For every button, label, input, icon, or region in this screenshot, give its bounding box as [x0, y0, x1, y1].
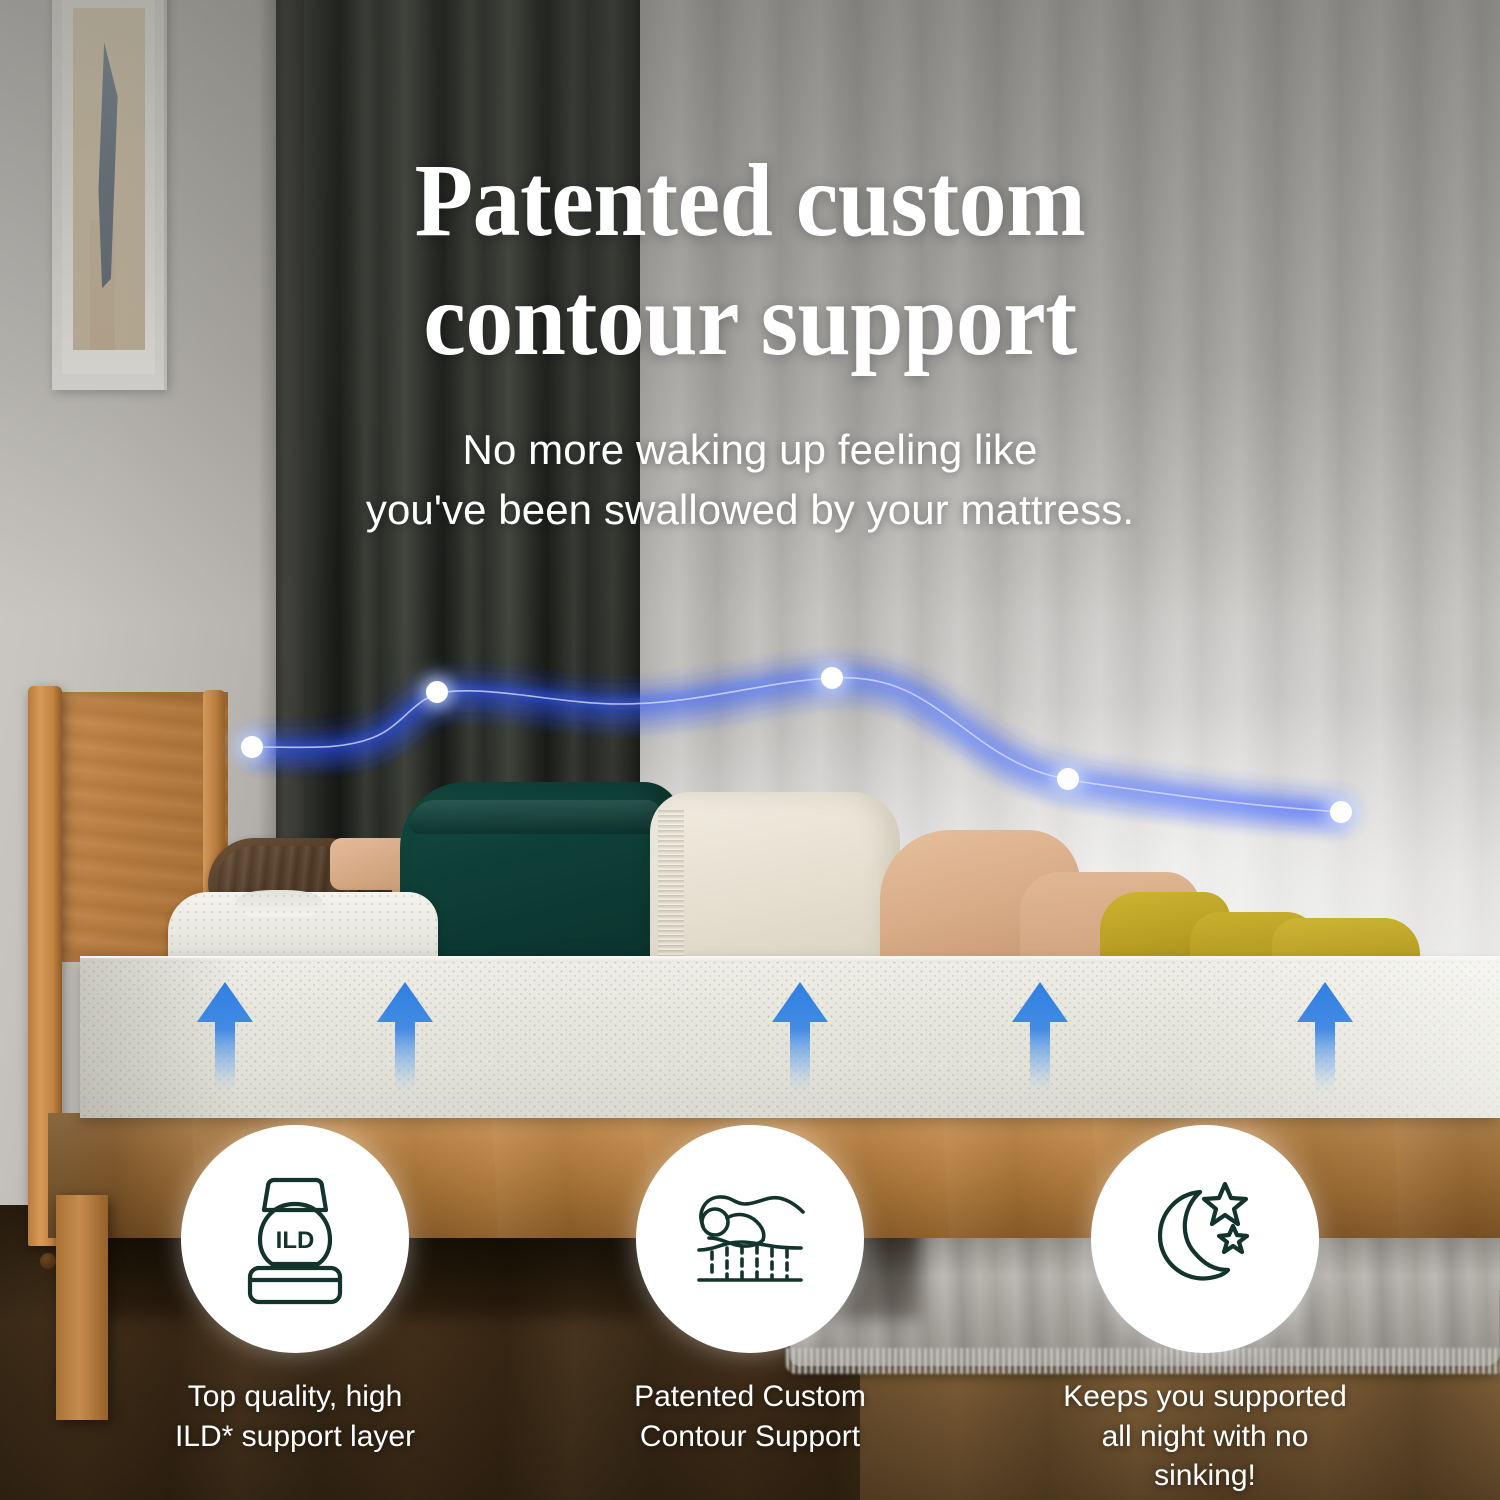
feature-caption: Top quality, high ILD* support layer — [175, 1377, 415, 1456]
product-feature-image: Patented custom contour support No more … — [0, 0, 1500, 1500]
art-canvas — [73, 8, 145, 350]
bed-frame-knob — [40, 1253, 56, 1269]
sleeper-shirt-seam — [658, 810, 684, 966]
feature-no-sinking[interactable]: Keeps you supported all night with no si… — [1055, 1125, 1355, 1496]
feature-ild-support[interactable]: ILD Top quality, high ILD* support layer — [145, 1125, 445, 1456]
feature-contour-support[interactable]: Patented Custom Contour Support — [600, 1125, 900, 1456]
weight-on-mattress-icon: ILD — [220, 1164, 370, 1314]
feature-caption: Patented Custom Contour Support — [634, 1377, 866, 1456]
feature-caption: Keeps you supported all night with no si… — [1055, 1377, 1355, 1496]
feature-badge-circle — [636, 1125, 864, 1353]
art-mat — [62, 0, 155, 374]
framed-wall-art — [52, 0, 167, 390]
contour-pillow-texture — [168, 892, 438, 964]
sleeper-top-fold — [410, 800, 660, 834]
person-on-support-layer-icon — [675, 1164, 825, 1314]
bed-frame-leg — [56, 1195, 108, 1420]
feature-badge-circle: ILD — [181, 1125, 409, 1353]
feature-list: ILD Top quality, high ILD* support layer — [0, 1125, 1500, 1455]
sleeper-cream-shirt — [650, 792, 900, 968]
feature-badge-circle — [1091, 1125, 1319, 1353]
moon-and-stars-icon — [1130, 1164, 1280, 1314]
ild-icon-label: ILD — [276, 1227, 315, 1254]
mattress-left-shading — [80, 958, 240, 1118]
mattress-right-highlight — [1180, 958, 1500, 1118]
